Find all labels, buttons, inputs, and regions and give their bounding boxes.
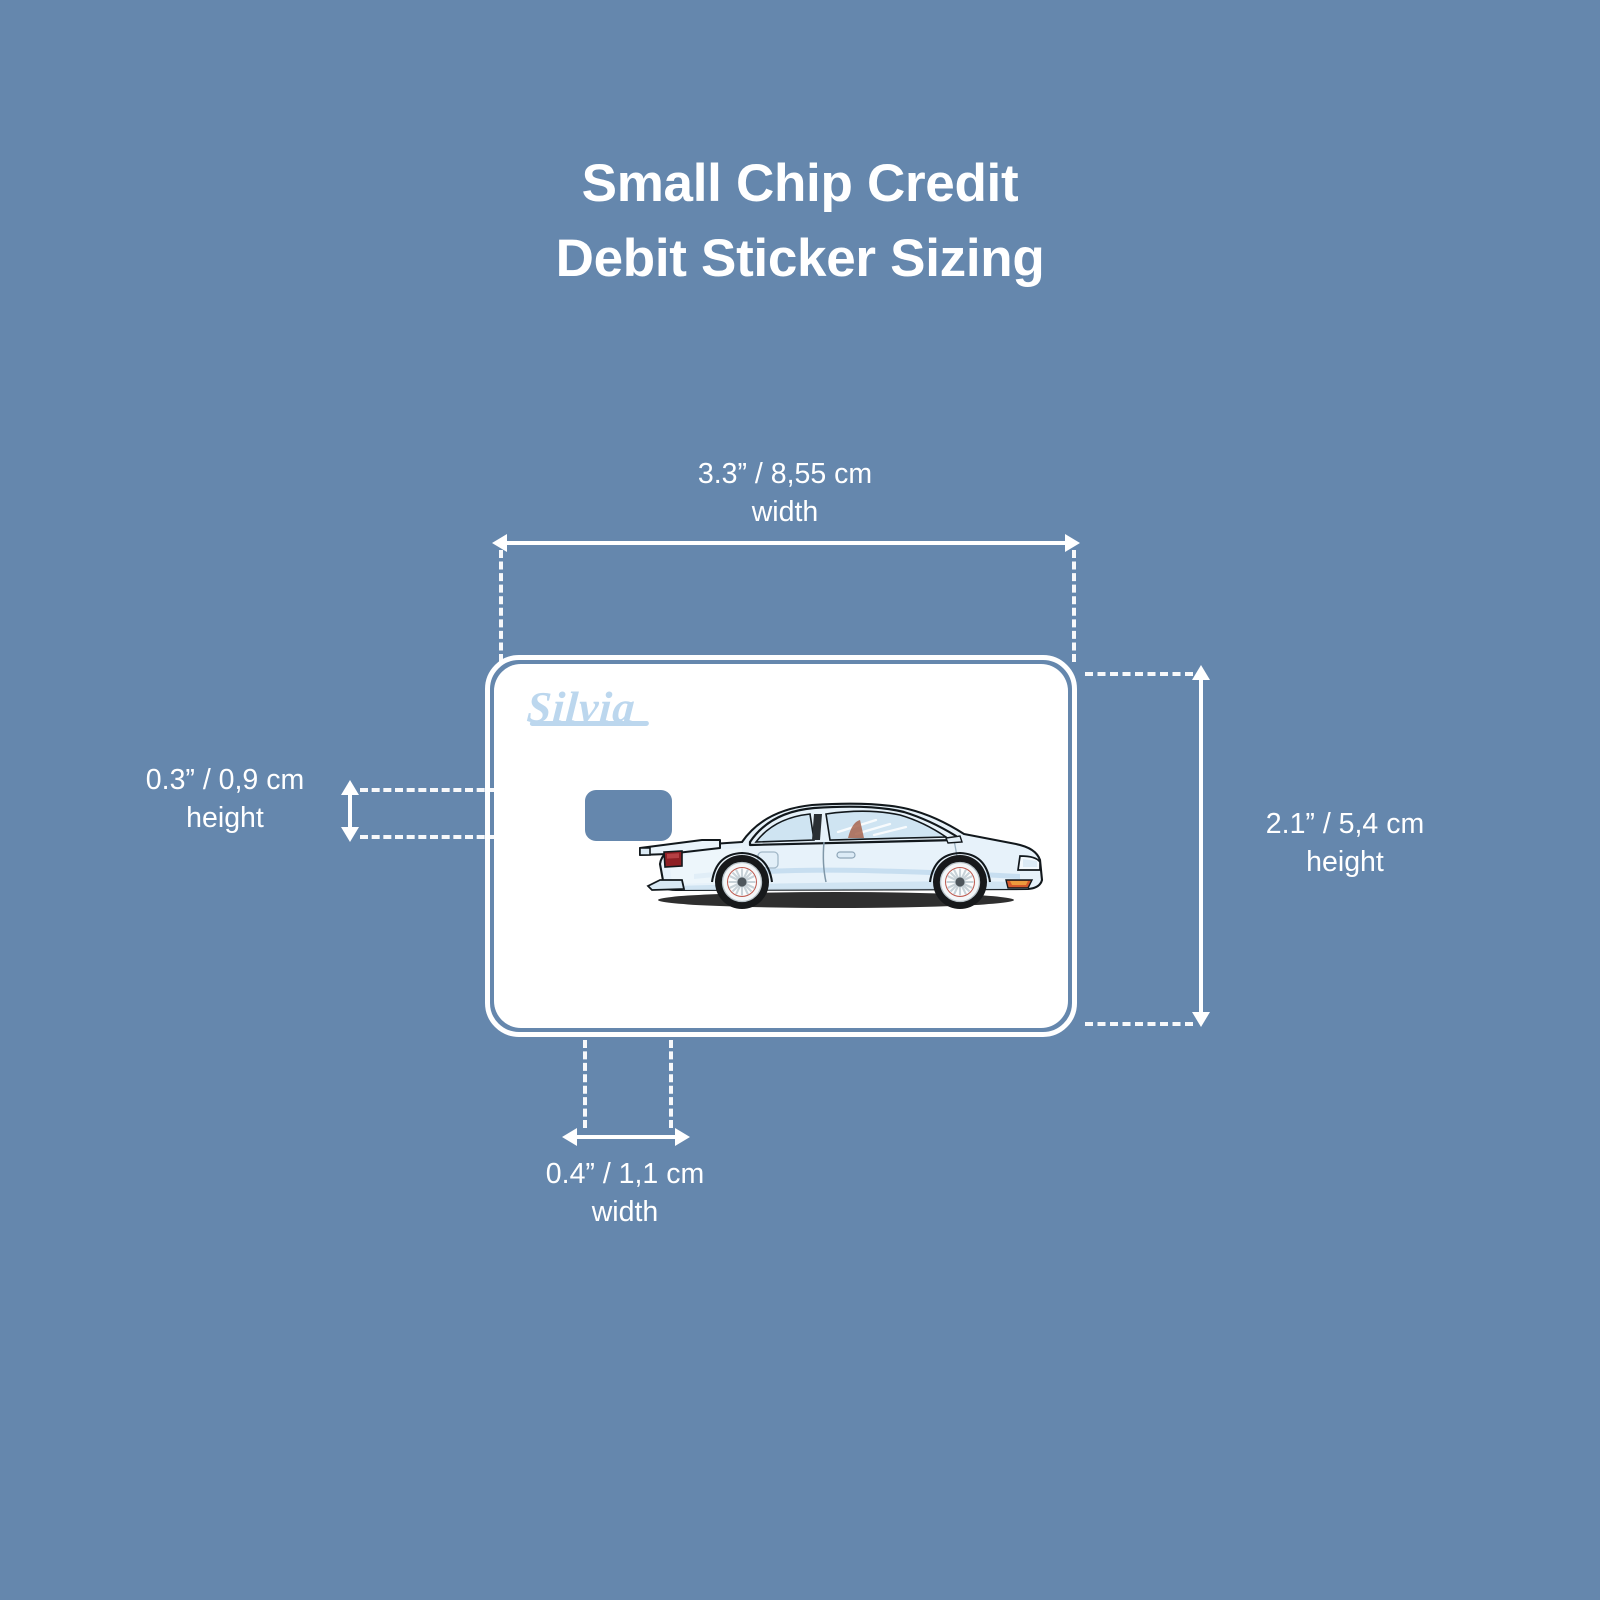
card-width-extension-right (1072, 550, 1076, 662)
chip-width-unit-label: width (495, 1194, 755, 1232)
chip-width-value: 0.4” / 1,1 cm (546, 1158, 704, 1190)
page-title: Small Chip Credit Debit Sticker Sizing (0, 146, 1600, 297)
chip-height-arrow (341, 780, 359, 842)
card-height-label: 2.1” / 5,4 cm height (1220, 806, 1470, 882)
chip-height-label: 0.3” / 0,9 cm height (110, 762, 340, 838)
arrow-bar (500, 541, 1072, 545)
arrow-right-tip-icon (675, 1128, 690, 1146)
arrow-bar (570, 1135, 682, 1139)
card-width-label: 3.3” / 8,55 cm width (585, 456, 985, 532)
card-width-value: 3.3” / 8,55 cm (698, 458, 872, 490)
page-title-line-2: Debit Sticker Sizing (0, 221, 1600, 296)
card-width-arrow (492, 534, 1080, 552)
arrow-bottom-tip-icon (1192, 1012, 1210, 1027)
silvia-brand-script: Silvia (525, 682, 637, 733)
chip-height-unit-label: height (110, 800, 340, 838)
arrow-bar (1199, 673, 1203, 1019)
card-height-arrow (1192, 665, 1210, 1027)
chip-height-value: 0.3” / 0,9 cm (146, 764, 304, 796)
chip-width-extension-right (669, 1040, 673, 1128)
sticker-sizing-diagram: Small Chip Credit Debit Sticker Sizing 3… (0, 0, 1600, 1600)
arrow-bottom-tip-icon (341, 827, 359, 842)
card-height-extension-bottom (1085, 1022, 1193, 1026)
card-height-value: 2.1” / 5,4 cm (1266, 808, 1424, 840)
silvia-car-illustration (624, 782, 1049, 912)
page-title-line-1: Small Chip Credit (0, 146, 1600, 221)
chip-width-arrow (562, 1128, 690, 1146)
card-width-extension-left (499, 550, 503, 662)
card-height-extension-top (1085, 672, 1193, 676)
card-width-unit-label: width (585, 494, 985, 532)
card-height-unit-label: height (1220, 844, 1470, 882)
chip-width-label: 0.4” / 1,1 cm width (495, 1156, 755, 1232)
credit-card-sticker: Silvia (494, 664, 1068, 1028)
chip-width-extension-left (583, 1040, 587, 1128)
